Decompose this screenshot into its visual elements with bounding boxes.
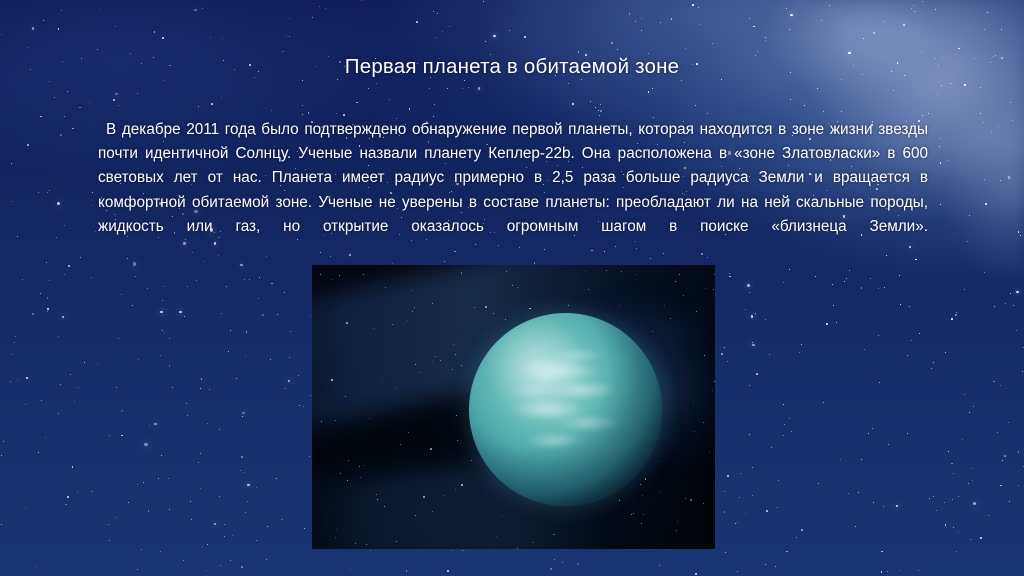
body-paragraph: В декабре 2011 года было подтверждено об… [98,118,928,239]
exoplanet-kepler-22b [469,313,662,506]
planet-image [312,265,715,549]
slide: Первая планета в обитаемой зоне В декабр… [0,0,1024,576]
page-title: Первая планета в обитаемой зоне [0,54,1024,80]
planet-shadow [469,313,662,506]
